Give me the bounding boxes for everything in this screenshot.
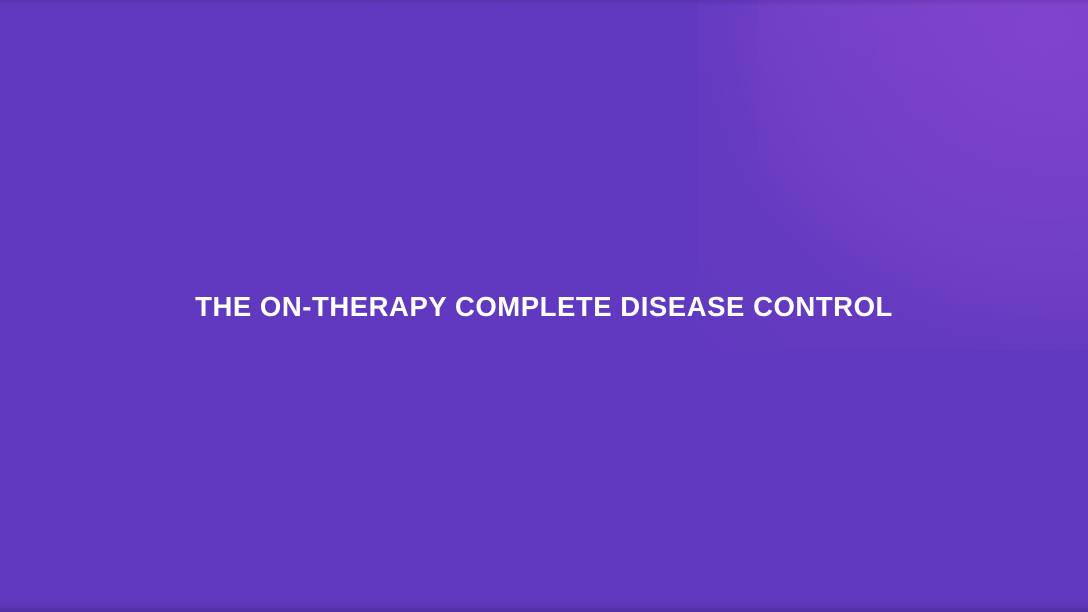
slide-content-area: THE ON-THERAPY COMPLETE DISEASE CONTROL [0, 0, 1088, 612]
presentation-slide: THE ON-THERAPY COMPLETE DISEASE CONTROL [0, 0, 1088, 612]
slide-title: THE ON-THERAPY COMPLETE DISEASE CONTROL [195, 290, 893, 323]
